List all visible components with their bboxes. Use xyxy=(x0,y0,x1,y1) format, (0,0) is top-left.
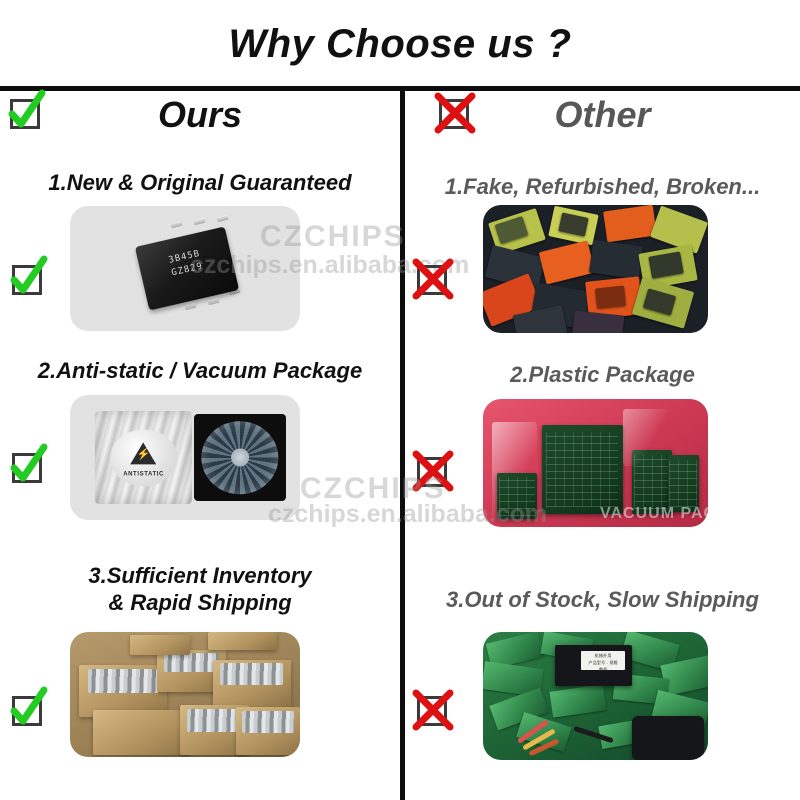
column-other-header: Other xyxy=(405,91,800,147)
antistatic-disc: ⚡ ANTISTATIC xyxy=(110,429,178,486)
x-mark-icon xyxy=(413,451,453,491)
module-label-line-1: 机械外用 xyxy=(581,651,625,658)
column-ours-header: Ours xyxy=(0,91,400,147)
other-row-1: 1.Fake, Refurbished, Broken... xyxy=(405,147,800,357)
cardboard-boxes-photo xyxy=(70,632,300,757)
x-glyph xyxy=(413,259,453,299)
column-ours-heading: Ours xyxy=(0,94,400,136)
x-glyph xyxy=(413,690,453,730)
column-other-heading: Other xyxy=(405,94,800,136)
fake-chips-photo xyxy=(483,205,708,333)
antistatic-label: ANTISTATIC xyxy=(110,471,178,477)
other-row-2: 2.Plastic Package VACUUM PACK xyxy=(405,347,800,562)
x-mark-icon xyxy=(413,690,453,730)
module-label-line-3: 数量 xyxy=(581,665,625,672)
antistatic-bag: ⚡ ANTISTATIC xyxy=(95,411,192,504)
check-mark-icon xyxy=(8,690,48,730)
check-mark-icon xyxy=(8,447,48,487)
other-row-3: 3.Out of Stock, Slow Shipping xyxy=(405,562,800,797)
column-other: Other 1.Fake, Refurbished, Broken... xyxy=(405,91,800,800)
ours-row-2: 2.Anti-static / Vacuum Package ⚡ ANTISTA… xyxy=(0,347,400,562)
check-mark-icon xyxy=(8,259,48,299)
module-label-line-2: 产品型号 - 规格 xyxy=(581,658,625,665)
x-mark-icon xyxy=(413,259,453,299)
ours-row-3-title: 3.Sufficient Inventory & Rapid Shipping xyxy=(0,562,400,616)
check-glyph xyxy=(8,259,48,299)
why-choose-us-infographic: Why Choose us ? Ours 1.New & Original Gu… xyxy=(0,0,800,800)
ours-row-3: 3.Sufficient Inventory & Rapid Shipping xyxy=(0,562,400,797)
ours-row-1-title: 1.New & Original Guaranteed xyxy=(0,169,400,196)
plastic-package-photo: VACUUM PACK xyxy=(483,399,708,527)
column-ours: Ours 1.New & Original Guaranteed xyxy=(0,91,400,800)
chip-package: 3B45B GZ829 xyxy=(135,226,239,310)
page-title: Why Choose us ? xyxy=(0,22,800,67)
other-row-1-title: 1.Fake, Refurbished, Broken... xyxy=(405,173,800,200)
ours-row-2-title: 2.Anti-static / Vacuum Package xyxy=(0,357,400,384)
other-row-2-title: 2.Plastic Package xyxy=(405,361,800,388)
chip-photo: 3B45B GZ829 xyxy=(70,206,300,331)
scrap-boards-photo: 机械外用 产品型号 - 规格 数量 xyxy=(483,632,708,760)
vacuum-tray xyxy=(194,414,286,502)
wafer-tray-disc xyxy=(202,421,279,495)
check-glyph xyxy=(8,690,48,730)
lightning-bolt-icon: ⚡ xyxy=(137,449,151,460)
check-glyph xyxy=(8,447,48,487)
black-module: 机械外用 产品型号 - 规格 数量 xyxy=(555,645,632,686)
ours-row-1: 1.New & Original Guaranteed 3B45B GZ82 xyxy=(0,147,400,357)
module-label: 机械外用 产品型号 - 规格 数量 xyxy=(581,651,625,670)
other-row-3-title: 3.Out of Stock, Slow Shipping xyxy=(405,586,800,613)
antistatic-bag-photo: ⚡ ANTISTATIC xyxy=(70,395,300,520)
x-glyph xyxy=(413,451,453,491)
